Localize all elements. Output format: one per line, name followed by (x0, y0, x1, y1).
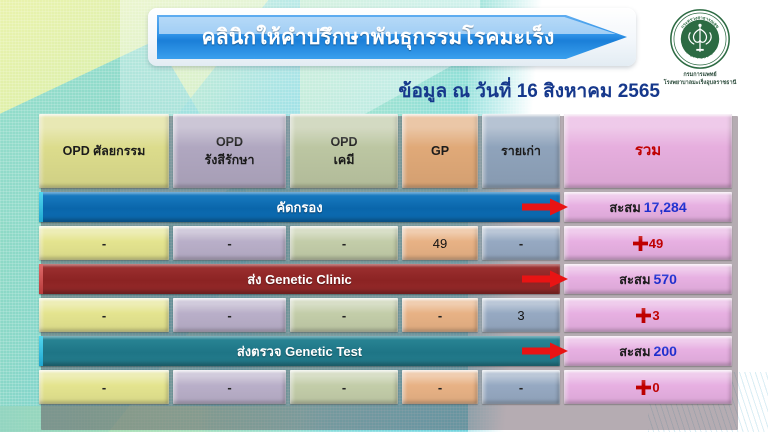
table-cell-chemo: - (290, 226, 398, 260)
cell-dash: - (102, 308, 106, 323)
table-cell-surg: - (39, 370, 169, 404)
accumulated-label: สะสม (619, 341, 650, 362)
increment-number: 49 (649, 236, 663, 251)
table-cell-total: สะสม200 (564, 336, 732, 366)
cell-dash: - (342, 236, 346, 251)
table-cell-total: สะสม570 (564, 264, 732, 294)
accumulated-number: 17,284 (644, 199, 687, 215)
data-as-of-date: ข้อมูล ณ วันที่ 16 สิงหาคม 2565 (300, 76, 660, 106)
cell-value: 49 (433, 236, 447, 251)
red-arrow-icon (522, 271, 568, 288)
header-label: GP (431, 142, 449, 160)
header-label: OPD (330, 133, 357, 151)
accumulated-number: 200 (654, 343, 677, 359)
table-cell-gp: - (402, 298, 478, 332)
table-band-row: ส่งตรวจ Genetic Test (39, 336, 560, 366)
header-sublabel: เคมี (334, 151, 355, 169)
header-label: OPD ศัลยกรรม (63, 142, 146, 160)
table-cell-radio: - (173, 370, 286, 404)
page-title: คลินิกให้คำปรึกษาพันธุกรรมโรคมะเร็ง (158, 17, 598, 57)
red-arrow-icon (522, 199, 568, 216)
band-label: คัดกรอง (276, 197, 322, 218)
table-cell-total: สะสม17,284 (564, 192, 732, 222)
logo-caption-line1: กรมการแพทย์ (664, 72, 737, 80)
accumulated-label: สะสม (609, 197, 640, 218)
table-cell-old: - (482, 226, 560, 260)
cell-dash: - (227, 308, 231, 323)
table-header-old: รายเก่า (482, 114, 560, 188)
table-cell-surg: - (39, 226, 169, 260)
cell-dash: - (227, 380, 231, 395)
increment-number: 3 (652, 308, 659, 323)
total-value: 0 (636, 380, 659, 395)
accumulated-label: สะสม (619, 269, 650, 290)
table-cell-old: 3 (482, 298, 560, 332)
ministry-seal-icon: กระทรวงสาธารณสุข MINISTRY OF PUBLIC HEAL… (669, 8, 731, 70)
plus-sign-icon (633, 236, 648, 251)
cell-dash: - (438, 308, 442, 323)
band-label: ส่ง Genetic Clinic (247, 269, 352, 290)
logo-block: กระทรวงสาธารณสุข MINISTRY OF PUBLIC HEAL… (640, 8, 760, 104)
table-band-row: ส่ง Genetic Clinic (39, 264, 560, 294)
table-cell-radio: - (173, 226, 286, 260)
cell-dash: - (519, 380, 523, 395)
clinic-summary-table: OPD ศัลยกรรมOPDรังสีรักษาOPDเคมีGPรายเก่… (37, 112, 734, 428)
slide: คลินิกให้คำปรึกษาพันธุกรรมโรคมะเร็ง ข้อม… (0, 0, 768, 432)
increment-group: 49 (633, 236, 663, 251)
table-cell-total: 3 (564, 298, 732, 332)
increment-group: 3 (636, 308, 659, 323)
cell-dash: - (102, 380, 106, 395)
total-value: สะสม570 (619, 269, 677, 290)
header-label: รวม (635, 140, 661, 162)
table-band-row: คัดกรอง (39, 192, 560, 222)
table-cell-chemo: - (290, 298, 398, 332)
cell-dash: - (227, 236, 231, 251)
cell-dash: - (519, 236, 523, 251)
increment-group: 0 (636, 380, 659, 395)
cell-dash: - (342, 308, 346, 323)
table-cell-total: 49 (564, 226, 732, 260)
total-value: 49 (633, 236, 663, 251)
cell-dash: - (342, 380, 346, 395)
header-label: OPD (216, 133, 243, 151)
table-cell-chemo: - (290, 370, 398, 404)
table-header-radio: OPDรังสีรักษา (173, 114, 286, 188)
table-cell-gp: 49 (402, 226, 478, 260)
plus-sign-icon (636, 308, 651, 323)
table-header-total: รวม (564, 114, 732, 188)
table-grid: OPD ศัลยกรรมOPDรังสีรักษาOPDเคมีGPรายเก่… (37, 112, 734, 428)
logo-caption: กรมการแพทย์ โรงพยาบาลมะเร็งอุบลราชธานี (664, 72, 737, 88)
table-header-surg: OPD ศัลยกรรม (39, 114, 169, 188)
table-cell-gp: - (402, 370, 478, 404)
total-value: สะสม200 (619, 341, 677, 362)
table-cell-surg: - (39, 298, 169, 332)
total-value: 3 (636, 308, 659, 323)
cell-value: 3 (517, 308, 524, 323)
table-cell-old: - (482, 370, 560, 404)
table-header-gp: GP (402, 114, 478, 188)
header-label: รายเก่า (501, 142, 541, 160)
logo-caption-line2: โรงพยาบาลมะเร็งอุบลราชธานี (664, 80, 737, 88)
header-sublabel: รังสีรักษา (205, 151, 255, 169)
cell-dash: - (102, 236, 106, 251)
plus-sign-icon (636, 380, 651, 395)
table-cell-radio: - (173, 298, 286, 332)
band-label: ส่งตรวจ Genetic Test (237, 341, 362, 362)
table-header-chemo: OPDเคมี (290, 114, 398, 188)
increment-number: 0 (652, 380, 659, 395)
cell-dash: - (438, 380, 442, 395)
title-banner: คลินิกให้คำปรึกษาพันธุกรรมโรคมะเร็ง (148, 8, 636, 66)
table-cell-total: 0 (564, 370, 732, 404)
red-arrow-icon (522, 343, 568, 360)
accumulated-number: 570 (654, 271, 677, 287)
total-value: สะสม17,284 (609, 197, 686, 218)
